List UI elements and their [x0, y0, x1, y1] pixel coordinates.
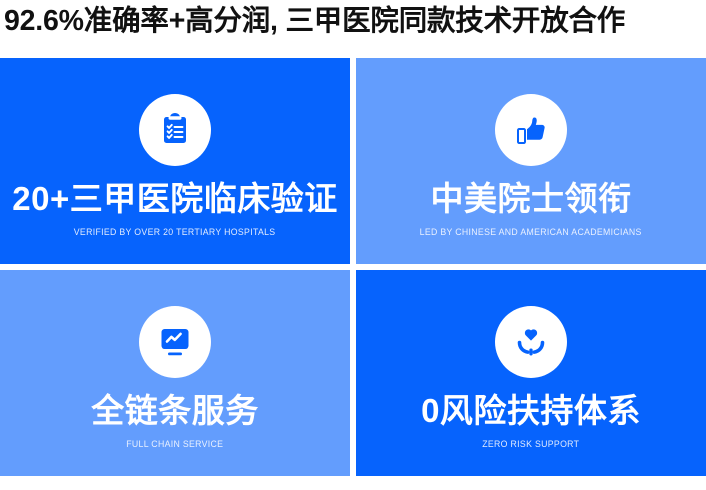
feature-card-academician-led[interactable]: 中美院士领衔 LED BY CHINESE AND AMERICAN ACADE… [356, 58, 706, 264]
feature-card-clinical-validation[interactable]: 20+三甲医院临床验证 VERIFIED BY OVER 20 TERTIARY… [0, 58, 350, 264]
feature-card-title: 0风险扶持体系 [421, 394, 641, 429]
feature-card-title: 20+三甲医院临床验证 [12, 182, 337, 217]
feature-card-subtitle: FULL CHAIN SERVICE [126, 439, 223, 450]
feature-card-full-chain-service[interactable]: 全链条服务 FULL CHAIN SERVICE [0, 270, 350, 476]
feature-card-subtitle: LED BY CHINESE AND AMERICAN ACADEMICIANS [420, 227, 642, 238]
feature-card-subtitle: ZERO RISK SUPPORT [482, 439, 579, 450]
feature-card-subtitle: VERIFIED BY OVER 20 TERTIARY HOSPITALS [74, 227, 276, 238]
monitor-chart-icon [156, 323, 194, 361]
icon-badge [139, 306, 211, 378]
feature-card-zero-risk-support[interactable]: 0风险扶持体系 ZERO RISK SUPPORT [356, 270, 706, 476]
feature-highlight-page: 92.6%准确率+高分润, 三甲医院同款技术开放合作 [0, 0, 706, 490]
icon-badge [495, 306, 567, 378]
feature-card-grid: 20+三甲医院临床验证 VERIFIED BY OVER 20 TERTIARY… [0, 58, 706, 488]
clipboard-checklist-icon [155, 110, 195, 150]
page-title: 92.6%准确率+高分润, 三甲医院同款技术开放合作 [4, 2, 704, 42]
icon-badge [139, 94, 211, 166]
thumbs-up-icon [512, 111, 550, 149]
heart-in-hands-icon [512, 323, 550, 361]
feature-card-title: 中美院士领衔 [431, 182, 632, 217]
feature-card-title: 全链条服务 [91, 394, 259, 429]
icon-badge [495, 94, 567, 166]
